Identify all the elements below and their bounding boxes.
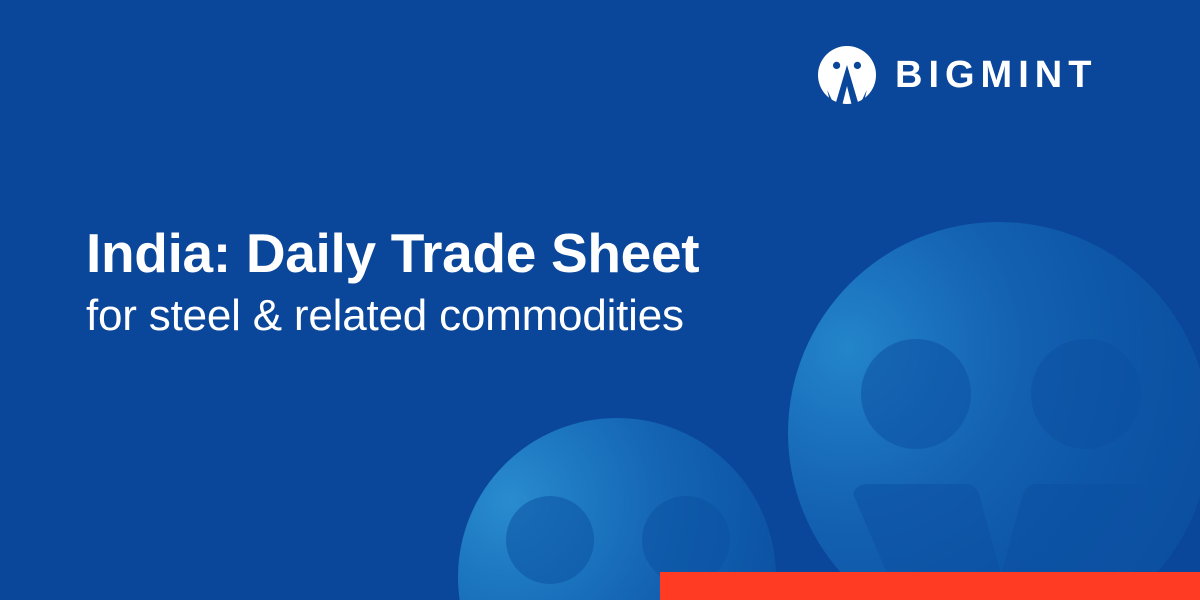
promo-banner: BIGMINT India: Daily Trade Sheet for ste… [0,0,1200,600]
page-subtitle: for steel & related commodities [86,290,786,342]
bigmint-logo[interactable]: BIGMINT [818,46,1097,104]
watermark-sphere-large-icon [788,222,1200,600]
bigmint-wordmark: BIGMINT [895,56,1097,94]
bigmint-two-figures-circle-icon [818,46,876,104]
page-title: India: Daily Trade Sheet [86,224,786,282]
watermark-figures-large-icon [788,222,1200,600]
headline-block: India: Daily Trade Sheet for steel & rel… [86,224,786,342]
bottom-accent-bar [660,572,1200,600]
